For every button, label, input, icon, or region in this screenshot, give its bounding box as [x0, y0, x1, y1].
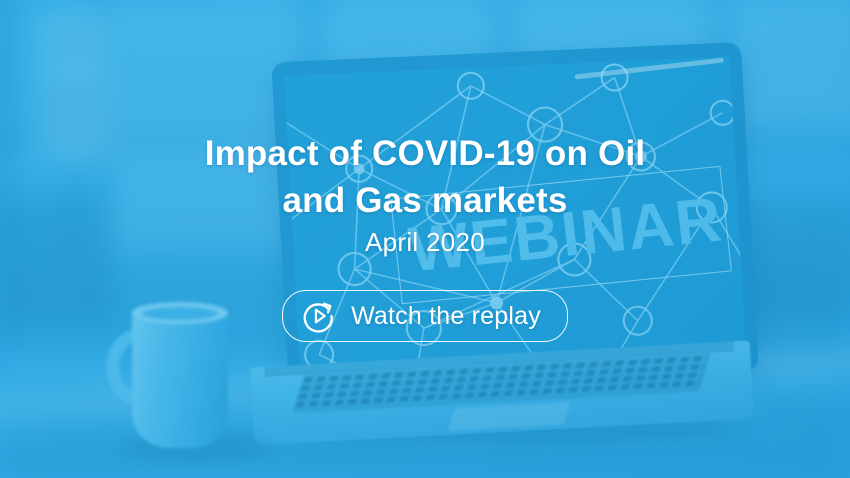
event-date: April 2020 [0, 227, 850, 258]
watch-replay-button[interactable]: Watch the replay [282, 290, 568, 342]
replay-play-icon [301, 298, 337, 334]
page-title: Impact of COVID-19 on Oil and Gas market… [0, 131, 850, 223]
webinar-promo-banner: WEBINAR Impac [0, 0, 850, 478]
title-line-2: and Gas markets [90, 178, 760, 224]
title-line-1: Impact of COVID-19 on Oil [205, 134, 646, 173]
watch-replay-label: Watch the replay [351, 302, 541, 331]
banner-content: Impact of COVID-19 on Oil and Gas market… [0, 0, 850, 478]
